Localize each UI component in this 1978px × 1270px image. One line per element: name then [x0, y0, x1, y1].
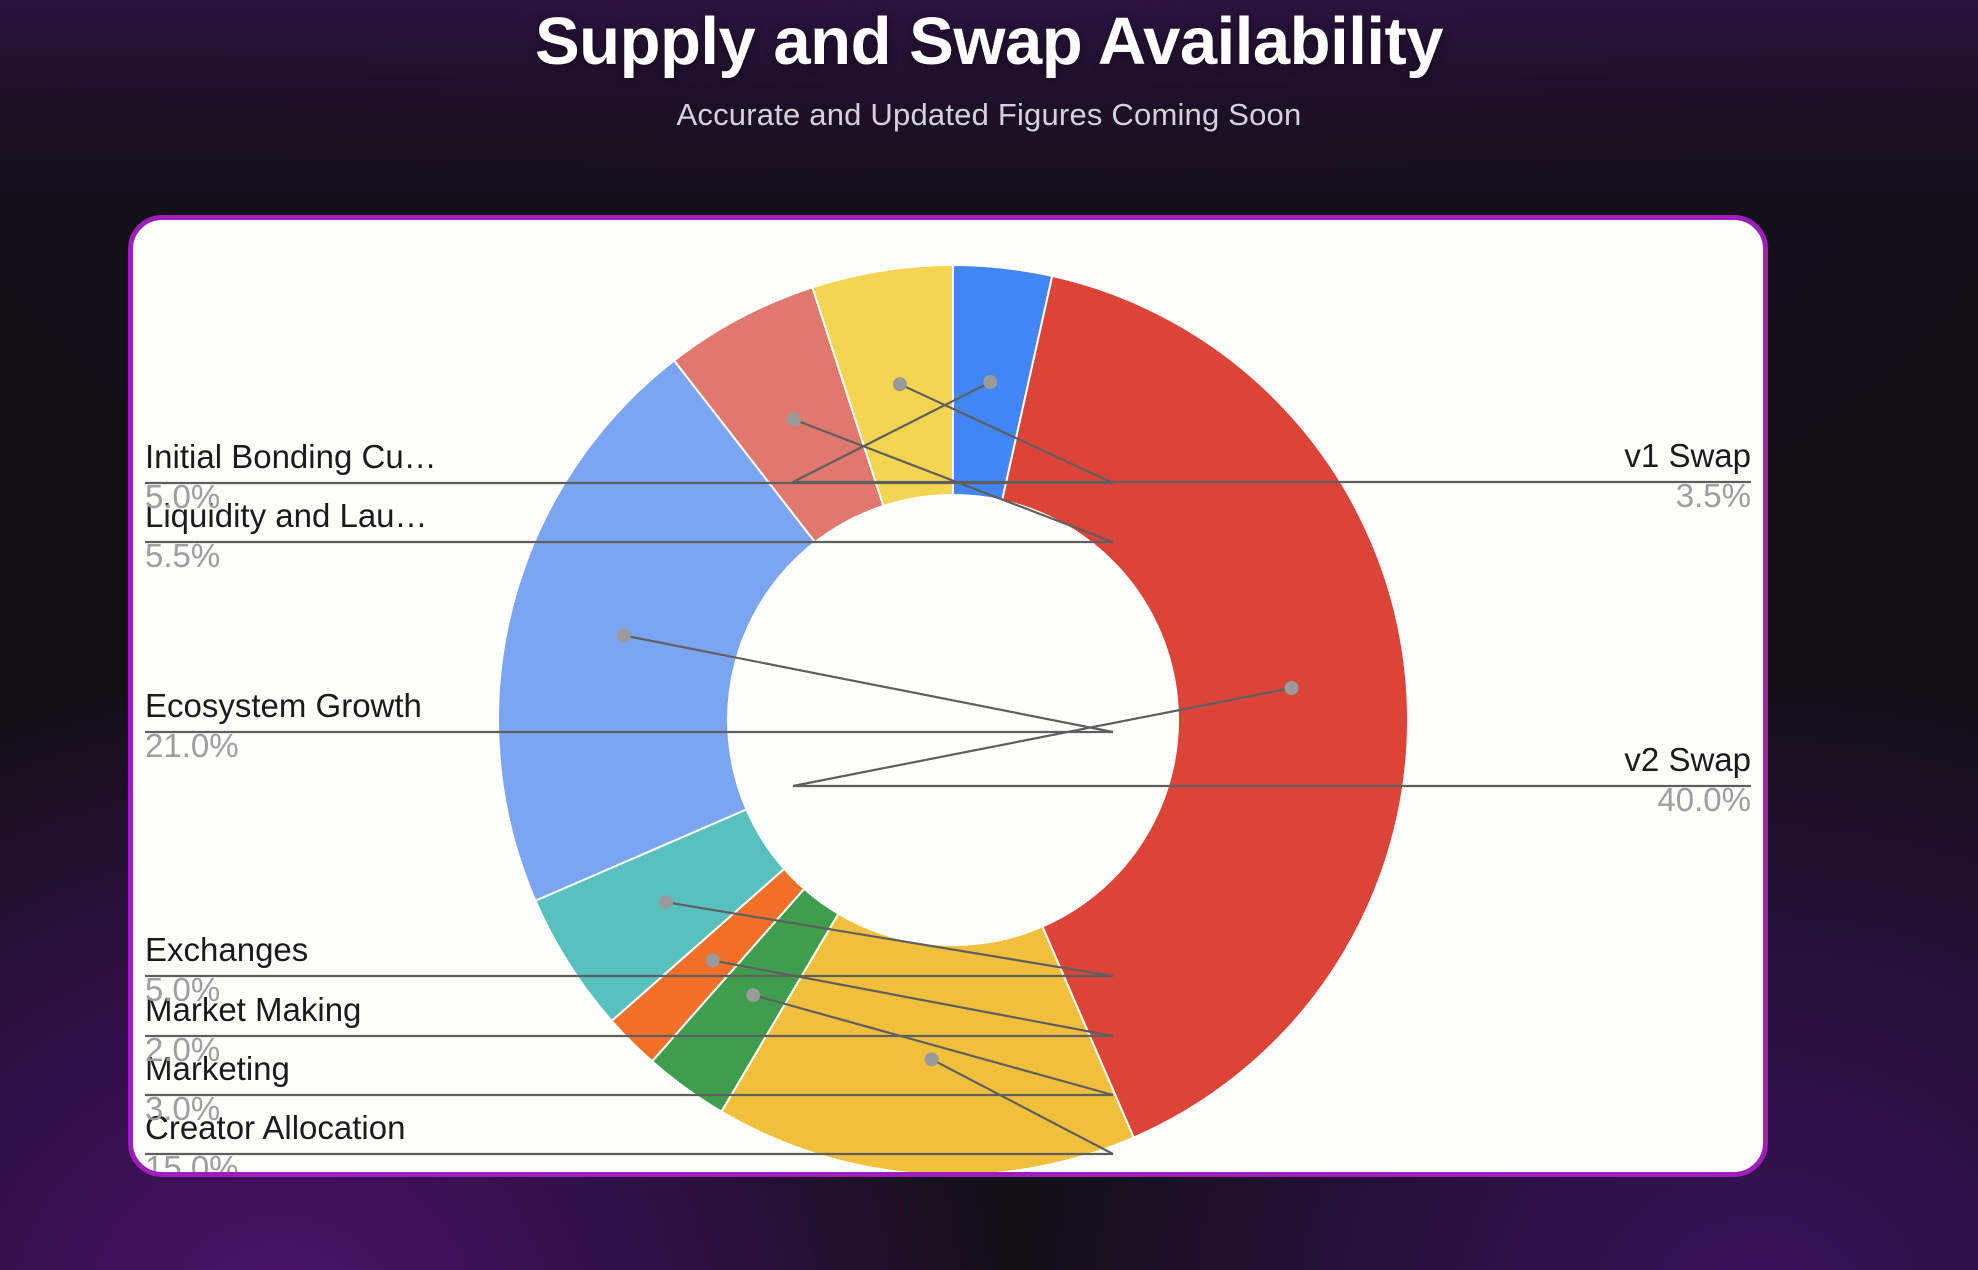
leader-anchor-dot: [983, 375, 997, 389]
leader-anchor-dot: [706, 953, 720, 967]
slice-value: 5.0%: [145, 969, 308, 1009]
slice-label: Exchanges: [145, 932, 308, 969]
leader-anchor-dot: [787, 413, 801, 427]
slice-value: 5.5%: [145, 535, 428, 575]
slice-value: 15.0%: [145, 1147, 405, 1177]
slice-value: 3.5%: [1624, 475, 1751, 515]
leader-anchor-dot: [659, 895, 673, 909]
page-header: Supply and Swap Availability Accurate an…: [0, 0, 1978, 133]
leader-anchor-dot: [746, 988, 760, 1002]
slice-value: 2.0%: [145, 1029, 361, 1069]
slice-callout[interactable]: Initial Bonding Cu…5.0%: [145, 439, 437, 516]
slice-label: v2 Swap: [1624, 742, 1751, 779]
page-subtitle: Accurate and Updated Figures Coming Soon: [0, 75, 1978, 133]
slice-callout[interactable]: v1 Swap3.5%: [1624, 438, 1751, 515]
slice-label: Initial Bonding Cu…: [145, 439, 437, 476]
slice-value: 21.0%: [145, 725, 422, 765]
slice-label: v1 Swap: [1624, 438, 1751, 475]
page-title: Supply and Swap Availability: [0, 0, 1978, 75]
leader-anchor-dot: [925, 1052, 939, 1066]
slice-value: 5.0%: [145, 476, 437, 516]
leader-anchor-dot: [1284, 681, 1298, 695]
leader-anchor-dot: [617, 628, 631, 642]
slice-callout[interactable]: v2 Swap40.0%: [1624, 742, 1751, 819]
slice-callout[interactable]: Exchanges5.0%: [145, 932, 308, 1009]
leader-anchor-dot: [893, 377, 907, 391]
chart-card: v1 Swap3.5%v2 Swap40.0%Creator Allocatio…: [128, 215, 1768, 1177]
slice-value: 40.0%: [1624, 779, 1751, 819]
slice-value: 3.0%: [145, 1088, 290, 1128]
slice-callout[interactable]: Ecosystem Growth21.0%: [145, 688, 422, 765]
slice-label: Ecosystem Growth: [145, 688, 422, 725]
